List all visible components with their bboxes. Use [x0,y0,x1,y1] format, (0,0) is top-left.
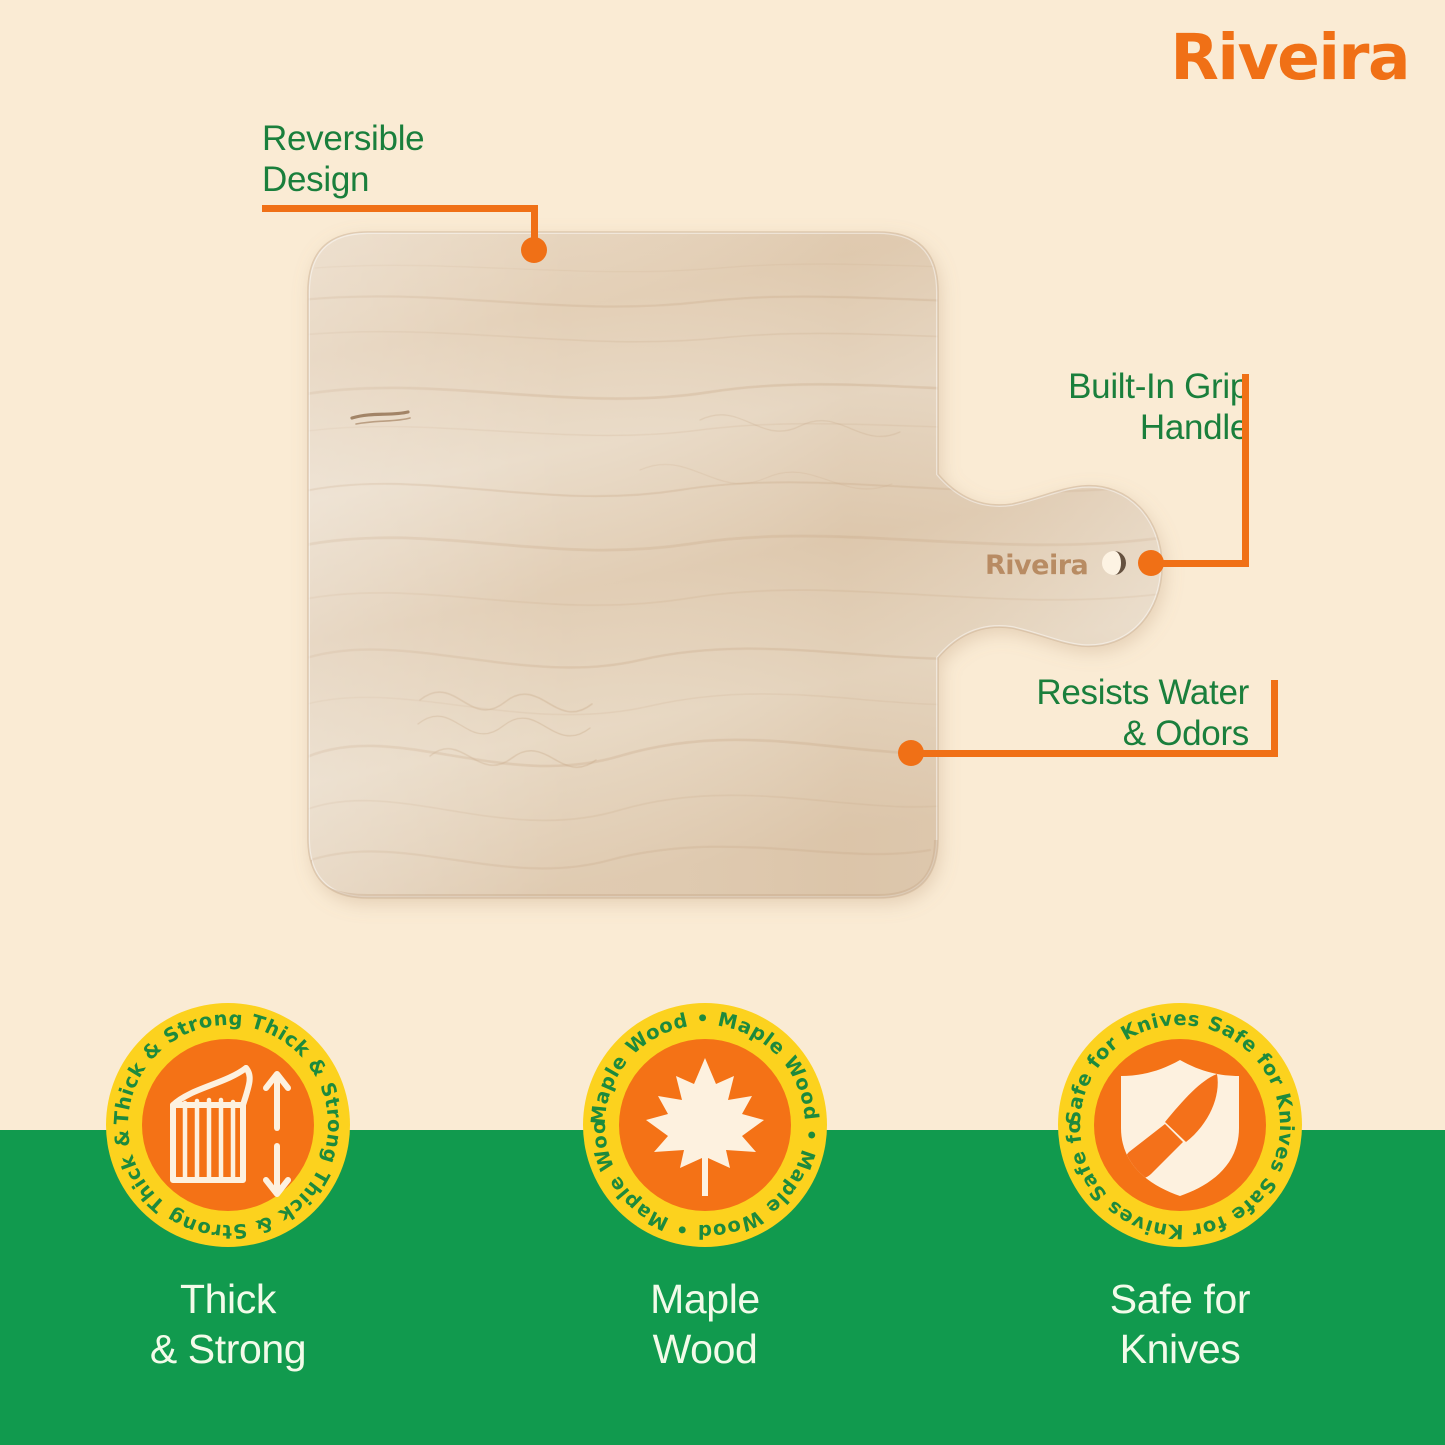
feature-badge-thick-and-strong: Thick & Strong Thick & Strong Thick & St… [18,1000,438,1374]
feature-badge-maple-wood: Maple Wood • Maple Wood • Maple Wood • M… [495,1000,915,1374]
leader-line-resists-horizontal [913,750,1278,757]
badge-medallion: Thick & Strong Thick & Strong Thick & St… [103,1000,353,1250]
cutting-board-illustration: Riveira [0,0,1445,1000]
leader-line-reversible-horizontal [262,205,538,212]
leader-dot-grip [1138,550,1164,576]
feature-badges-row: Thick & Strong Thick & Strong Thick & St… [0,1000,1445,1445]
feature-badge-safe-for-knives: Safe for Knives Safe for Knives Safe for… [970,1000,1390,1374]
badge-caption: Safe for Knives [970,1274,1390,1374]
callout-label-reversible-design: Reversible Design [262,118,424,201]
badge-medallion: Safe for Knives Safe for Knives Safe for… [1055,1000,1305,1250]
leader-line-resists-vertical [1271,680,1278,757]
badge-caption: Maple Wood [495,1274,915,1374]
leader-line-grip-horizontal [1150,560,1249,567]
leader-dot-reversible [521,237,547,263]
board-engraving: Riveira [985,550,1088,581]
callout-label-built-in-grip-handle: Built-In Grip Handle [1068,366,1249,449]
leader-dot-resists [898,740,924,766]
badge-medallion: Maple Wood • Maple Wood • Maple Wood • M… [580,1000,830,1250]
badge-caption: Thick & Strong [18,1274,438,1374]
callout-label-resists-water-odors: Resists Water & Odors [1036,672,1249,755]
product-image: Riveira [0,0,1445,1000]
badge-inner-disc [142,1039,314,1211]
product-infographic: Riveira [0,0,1445,1445]
leader-line-grip-vertical [1242,374,1249,565]
